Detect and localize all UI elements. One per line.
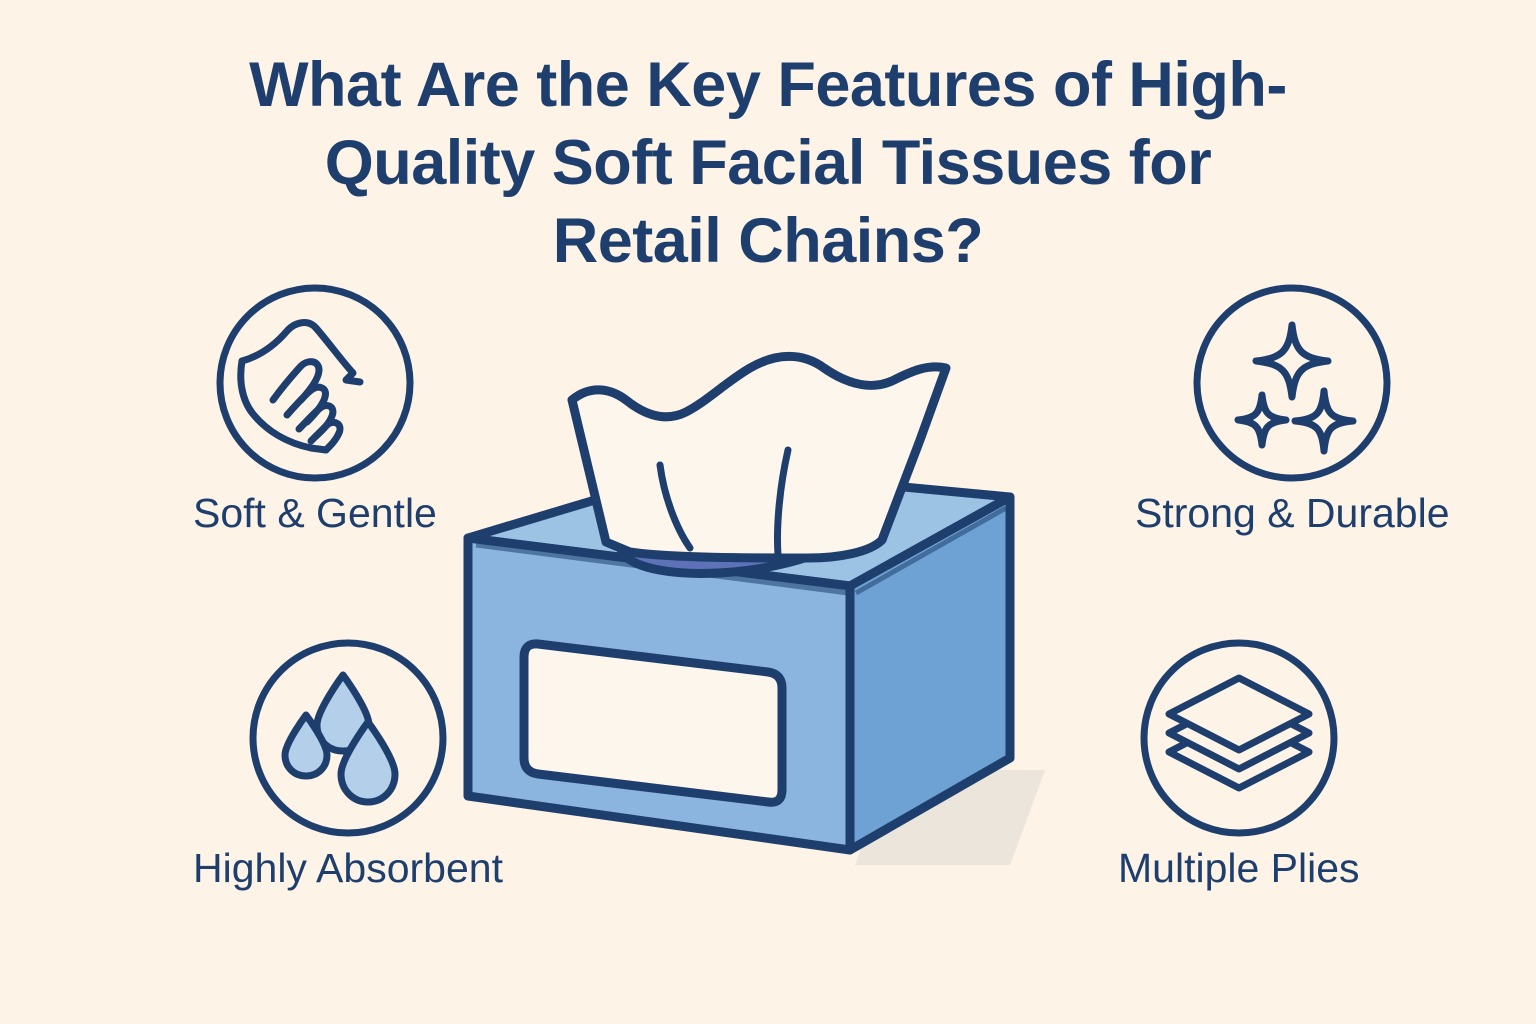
box-label-panel <box>524 644 782 802</box>
tissue-sheet <box>572 356 946 558</box>
feature-strong-durable-label: Strong & Durable <box>1135 489 1450 537</box>
water-droplets-icon <box>248 638 448 838</box>
sparkles-icon <box>1192 283 1392 483</box>
infographic-canvas: What Are the Key Features of High- Quali… <box>0 0 1536 1024</box>
feature-soft-gentle-label: Soft & Gentle <box>193 489 437 537</box>
feature-multiple-plies-label: Multiple Plies <box>1118 844 1360 892</box>
hand-touch-icon <box>215 283 415 483</box>
page-title: What Are the Key Features of High- Quali… <box>168 46 1368 280</box>
page-title-line-3: Retail Chains? <box>168 202 1368 280</box>
page-title-line-2: Quality Soft Facial Tissues for <box>168 124 1368 202</box>
tissue-box-illustration <box>450 290 1080 910</box>
feature-soft-gentle: Soft & Gentle <box>193 283 437 537</box>
stacked-layers-icon <box>1139 638 1339 838</box>
feature-strong-durable: Strong & Durable <box>1135 283 1450 537</box>
feature-multiple-plies: Multiple Plies <box>1118 638 1360 892</box>
page-title-line-1: What Are the Key Features of High- <box>168 46 1368 124</box>
